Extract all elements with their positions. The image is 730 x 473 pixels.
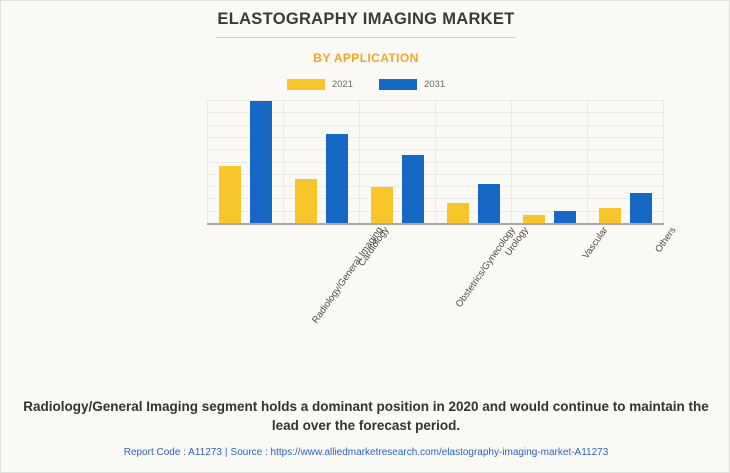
bar-2031-radiology-general-imaging[interactable] bbox=[250, 101, 272, 223]
bar-2031-vascular[interactable] bbox=[554, 211, 576, 223]
bar-group bbox=[435, 100, 511, 223]
legend-swatch-2031 bbox=[379, 79, 417, 90]
x-tick-label: Vascular bbox=[580, 225, 610, 261]
chart-legend: 2021 2031 bbox=[1, 79, 730, 90]
x-axis-tick-labels: Radiology/General ImagingCardiologyObste… bbox=[207, 225, 663, 365]
legend-item-2021[interactable]: 2021 bbox=[287, 79, 353, 90]
chart-caption: Radiology/General Imaging segment holds … bbox=[19, 397, 713, 435]
bar-2021-others[interactable] bbox=[599, 208, 621, 223]
bar-2021-radiology-general-imaging[interactable] bbox=[219, 166, 241, 223]
bar-group bbox=[511, 100, 587, 223]
bar-2031-cardiology[interactable] bbox=[326, 134, 348, 223]
legend-label-2031: 2031 bbox=[424, 79, 445, 90]
legend-label-2021: 2021 bbox=[332, 79, 353, 90]
bar-2021-obstetrics-gynecology[interactable] bbox=[371, 187, 393, 223]
report-code: Report Code : A11273 bbox=[124, 447, 222, 458]
bar-2021-cardiology[interactable] bbox=[295, 179, 317, 223]
bar-group bbox=[207, 100, 283, 223]
x-tick-label: Others bbox=[653, 225, 678, 255]
bar-group bbox=[359, 100, 435, 223]
bar-2031-obstetrics-gynecology[interactable] bbox=[402, 155, 424, 223]
bar-2031-others[interactable] bbox=[630, 193, 652, 223]
chart-card: ELASTOGRAPHY IMAGING MARKET BY APPLICATI… bbox=[0, 0, 730, 473]
legend-swatch-2021 bbox=[287, 79, 325, 90]
source-separator: | bbox=[222, 447, 231, 458]
source-url[interactable]: Source : https://www.alliedmarketresearc… bbox=[231, 447, 609, 458]
bar-2021-vascular[interactable] bbox=[523, 215, 545, 223]
x-tick-label: Obstetrics/Gynecology bbox=[454, 225, 518, 310]
bar-2021-urology[interactable] bbox=[447, 203, 469, 223]
source-line: Report Code : A11273|Source : https://ww… bbox=[1, 447, 730, 458]
bar-group bbox=[283, 100, 359, 223]
plot-area bbox=[207, 100, 663, 223]
gridline-vertical bbox=[663, 100, 664, 223]
legend-item-2031[interactable]: 2031 bbox=[379, 79, 445, 90]
bar-2031-urology[interactable] bbox=[478, 184, 500, 223]
page-title: ELASTOGRAPHY IMAGING MARKET bbox=[1, 10, 730, 29]
title-divider bbox=[216, 37, 516, 38]
chart-subtitle: BY APPLICATION bbox=[1, 51, 730, 65]
bar-group bbox=[587, 100, 663, 223]
